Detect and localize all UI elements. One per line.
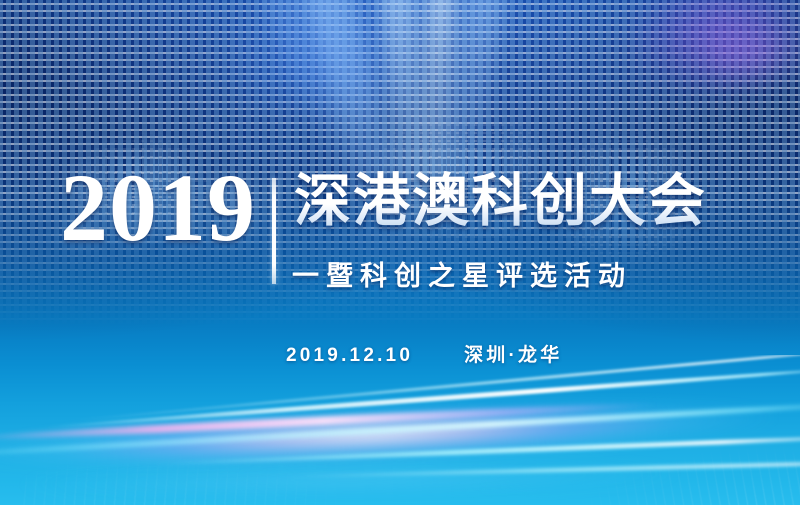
event-location: 深圳·龙华 bbox=[464, 345, 562, 366]
subtitle: 一暨科创之星评选活动 bbox=[292, 258, 632, 294]
event-date: 2019.12.10 bbox=[286, 345, 413, 366]
main-title: 深港澳科创大会 bbox=[294, 168, 707, 234]
vertical-divider-bar bbox=[272, 178, 276, 284]
year-label: 2019 bbox=[60, 160, 256, 256]
event-meta: 2019.12.10 深圳·龙华 bbox=[286, 343, 562, 369]
poster-content: 2019 深港澳科创大会 一暨科创之星评选活动 2019.12.10 深圳·龙华 bbox=[0, 0, 800, 505]
event-poster: 2019 深港澳科创大会 一暨科创之星评选活动 2019.12.10 深圳·龙华 bbox=[0, 0, 800, 505]
